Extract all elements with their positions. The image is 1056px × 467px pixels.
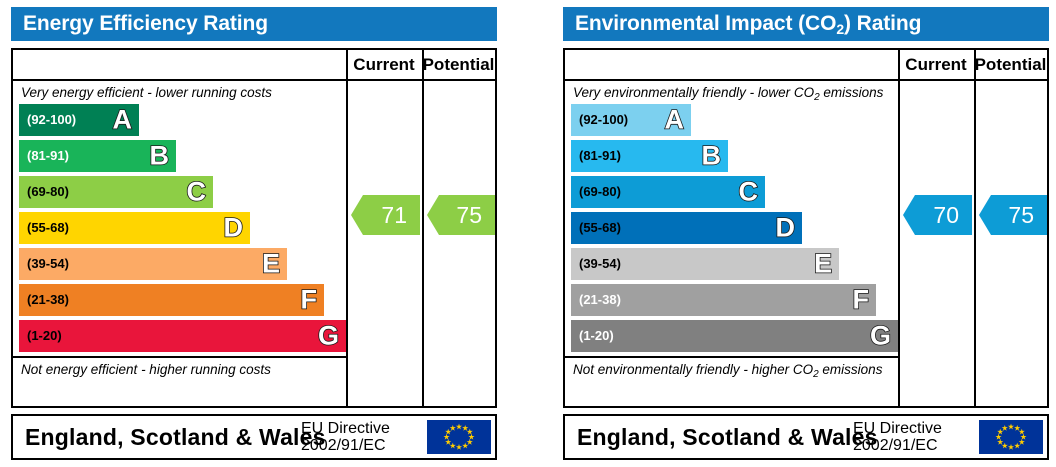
energy-efficiency-title: Energy Efficiency Rating xyxy=(11,7,497,41)
caption-not-efficient: Not energy efficient - higher running co… xyxy=(13,358,346,381)
band-range-a: (92-100) xyxy=(579,104,628,136)
caption-very-efficient: Very energy efficient - lower running co… xyxy=(13,81,346,104)
band-c: (69-80)C xyxy=(571,176,765,208)
band-c: (69-80)C xyxy=(19,176,213,208)
band-range-c: (69-80) xyxy=(27,176,69,208)
eu-directive-line-1: EU Directive xyxy=(301,420,421,437)
band-f: (21-38)F xyxy=(571,284,876,316)
energy-band-list: (92-100)A(81-91)B(69-80)C(55-68)D(39-54)… xyxy=(13,104,346,356)
band-range-g: (1-20) xyxy=(579,320,614,352)
eu-directive-line-2: 2002/91/EC xyxy=(301,437,421,454)
band-range-d: (55-68) xyxy=(579,212,621,244)
environmental-impact-panel: Environmental Impact (CO2) Rating Curren… xyxy=(552,0,1056,467)
potential-rating-arrow: 75 xyxy=(979,195,1047,235)
band-range-b: (81-91) xyxy=(27,140,69,172)
band-b: (81-91)B xyxy=(571,140,728,172)
band-letter-b: B xyxy=(150,143,170,170)
band-letter-a: A xyxy=(113,107,133,134)
band-a: (92-100)A xyxy=(571,104,691,136)
band-letter-g: G xyxy=(870,323,891,350)
band-g: (1-20)G xyxy=(571,320,898,352)
eu-flag-icon xyxy=(427,420,491,454)
band-letter-c: C xyxy=(739,179,759,206)
energy-efficiency-table: Current Potential Very energy efficient … xyxy=(11,48,497,408)
caption-very-friendly: Very environmentally friendly - lower CO… xyxy=(565,81,898,104)
band-letter-b: B xyxy=(702,143,722,170)
column-divider-potential xyxy=(422,50,424,406)
band-letter-c: C xyxy=(187,179,207,206)
column-divider-potential xyxy=(974,50,976,406)
band-range-c: (69-80) xyxy=(579,176,621,208)
energy-efficiency-footer: England, Scotland & Wales EU Directive 2… xyxy=(11,414,497,460)
band-range-e: (39-54) xyxy=(579,248,621,280)
epc-certificate-page: Energy Efficiency Rating Current Potenti… xyxy=(0,0,1056,467)
band-letter-g: G xyxy=(318,323,339,350)
band-letter-a: A xyxy=(665,107,685,134)
band-g: (1-20)G xyxy=(19,320,346,352)
band-range-b: (81-91) xyxy=(579,140,621,172)
column-divider-current xyxy=(346,50,348,406)
band-letter-d: D xyxy=(224,215,244,242)
current-rating-arrow: 71 xyxy=(351,195,420,235)
environmental-impact-footer: England, Scotland & Wales EU Directive 2… xyxy=(563,414,1049,460)
eu-directive-line-2: 2002/91/EC xyxy=(853,437,973,454)
column-header-current: Current xyxy=(346,50,422,79)
energy-efficiency-panel: Energy Efficiency Rating Current Potenti… xyxy=(0,0,504,467)
eu-directive-line-1: EU Directive xyxy=(853,420,973,437)
environmental-impact-table: Current Potential Very environmentally f… xyxy=(563,48,1049,408)
band-range-f: (21-38) xyxy=(27,284,69,316)
band-range-d: (55-68) xyxy=(27,212,69,244)
band-e: (39-54)E xyxy=(19,248,287,280)
band-range-a: (92-100) xyxy=(27,104,76,136)
band-letter-f: F xyxy=(853,287,870,314)
band-e: (39-54)E xyxy=(571,248,839,280)
country-label: England, Scotland & Wales xyxy=(25,416,326,458)
column-header-current: Current xyxy=(898,50,974,79)
band-range-g: (1-20) xyxy=(27,320,62,352)
band-range-f: (21-38) xyxy=(579,284,621,316)
country-label: England, Scotland & Wales xyxy=(577,416,878,458)
caption-not-friendly: Not environmentally friendly - higher CO… xyxy=(565,358,898,381)
band-b: (81-91)B xyxy=(19,140,176,172)
column-header-potential: Potential xyxy=(974,50,1047,79)
eu-flag-icon xyxy=(979,420,1043,454)
band-letter-d: D xyxy=(776,215,796,242)
eu-directive-label: EU Directive 2002/91/EC xyxy=(853,420,973,454)
current-rating-arrow: 70 xyxy=(903,195,972,235)
band-letter-e: E xyxy=(814,251,832,278)
band-a: (92-100)A xyxy=(19,104,139,136)
band-range-e: (39-54) xyxy=(27,248,69,280)
band-d: (55-68)D xyxy=(571,212,802,244)
band-letter-e: E xyxy=(262,251,280,278)
column-header-potential: Potential xyxy=(422,50,495,79)
band-f: (21-38)F xyxy=(19,284,324,316)
band-letter-f: F xyxy=(301,287,318,314)
potential-rating-arrow: 75 xyxy=(427,195,495,235)
environmental-impact-title: Environmental Impact (CO2) Rating xyxy=(563,7,1049,41)
column-divider-current xyxy=(898,50,900,406)
environmental-band-list: (92-100)A(81-91)B(69-80)C(55-68)D(39-54)… xyxy=(565,104,898,356)
eu-directive-label: EU Directive 2002/91/EC xyxy=(301,420,421,454)
band-d: (55-68)D xyxy=(19,212,250,244)
